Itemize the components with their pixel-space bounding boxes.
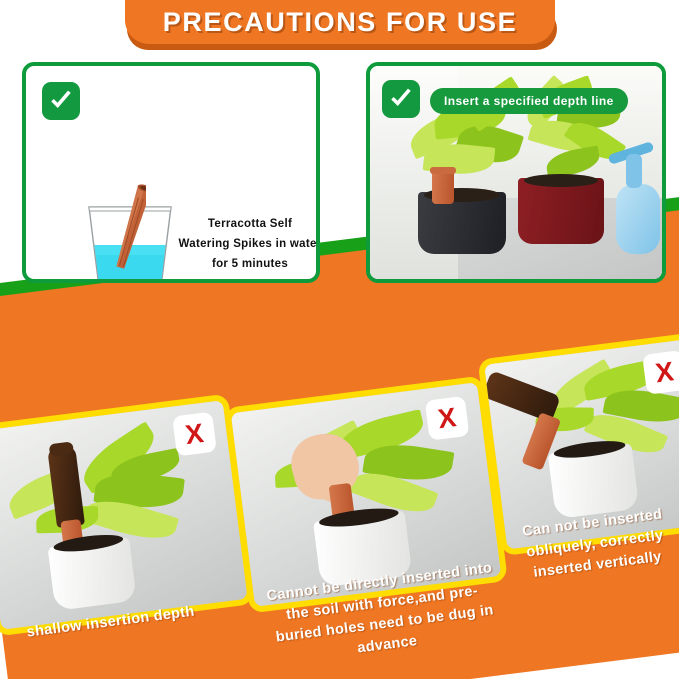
instruction-line-1: Terracotta Self (176, 214, 320, 234)
depth-line-label: Insert a specified depth line (430, 88, 628, 114)
soak-instruction-text: Terracotta Self Watering Spikes in water… (176, 214, 320, 274)
instruction-line-2: Watering Spikes in water (176, 234, 320, 254)
x-icon: X (425, 396, 470, 441)
depth-line-label-text: Insert a specified depth line (444, 94, 614, 108)
instruction-line-3: for 5 minutes (176, 254, 320, 274)
x-glyph: X (436, 404, 457, 433)
x-icon: X (642, 350, 679, 395)
x-glyph: X (654, 358, 675, 387)
infographic-root: PRECAUTIONS FOR USE Terracotta Self (0, 0, 679, 679)
x-icon: X (172, 412, 217, 457)
page-title: PRECAUTIONS FOR USE (163, 7, 517, 38)
correct-panel-soak-in-water: Terracotta Self Watering Spikes in water… (22, 62, 320, 283)
terracotta-spike-illustration (116, 181, 146, 277)
title-banner: PRECAUTIONS FOR USE (125, 0, 555, 44)
x-glyph: X (184, 419, 205, 448)
check-icon (382, 80, 420, 118)
check-icon (42, 82, 80, 120)
